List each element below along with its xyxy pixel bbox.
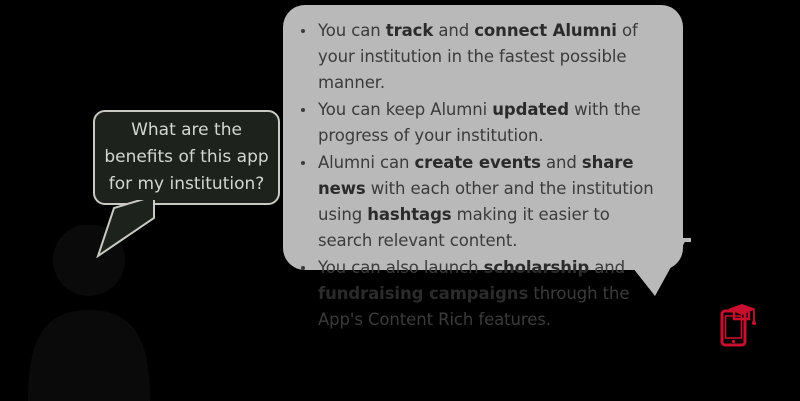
- body-text: and: [589, 258, 625, 277]
- emphasis-text: fundraising campaigns: [318, 284, 528, 303]
- emphasis-text: connect Alumni: [474, 21, 617, 40]
- emphasis-text: track: [386, 21, 433, 40]
- body-text: and: [433, 21, 474, 40]
- graduation-cap-phone-icon[interactable]: [718, 297, 762, 349]
- question-bubble-tail: [96, 196, 166, 258]
- body-text: You can keep Alumni: [318, 100, 492, 119]
- scene-canvas: What are the benefits of this app for my…: [0, 0, 800, 401]
- body-text: and: [541, 153, 582, 172]
- emphasis-text: hashtags: [367, 205, 451, 224]
- emphasis-text: updated: [492, 100, 569, 119]
- emphasis-text: create events: [414, 153, 540, 172]
- list-item-bullet-track-connect: You can track and connect Alumni of your…: [296, 18, 669, 96]
- question-speech-bubble: What are the benefits of this app for my…: [93, 110, 280, 205]
- benefits-list: You can track and connect Alumni of your…: [296, 18, 669, 333]
- body-text: Alumni can: [318, 153, 414, 172]
- list-item-bullet-scholarship: You can also launch scholarship and fund…: [296, 255, 669, 333]
- person-silhouette: [14, 225, 194, 401]
- emphasis-text: scholarship: [484, 258, 590, 277]
- body-text: You can: [318, 21, 386, 40]
- list-item-bullet-updated: You can keep Alumni updated with the pro…: [296, 97, 669, 149]
- body-text: You can also launch: [318, 258, 484, 277]
- list-item-bullet-create-events: Alumni can create events and share news …: [296, 150, 669, 254]
- question-text: What are the benefits of this app for my…: [96, 117, 276, 198]
- answer-speech-bubble: You can track and connect Alumni of your…: [283, 5, 683, 270]
